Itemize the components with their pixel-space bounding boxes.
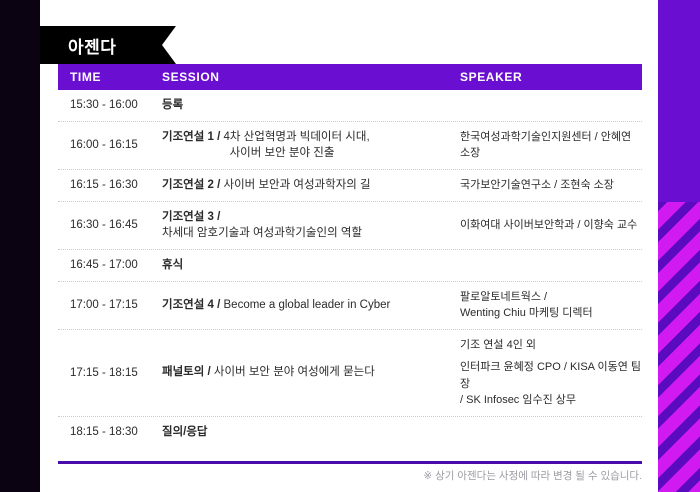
agenda-table: TIME SESSION SPEAKER 15:30 - 16:00등록16:0… — [58, 64, 642, 447]
table-row: 16:45 - 17:00휴식 — [58, 250, 642, 282]
table-row: 16:15 - 16:30기조연설 2 / 사이버 보안과 여성과학자의 길국가… — [58, 170, 642, 202]
cell-speaker: 한국여성과학기술인지원센터 / 안혜연 소장 — [460, 129, 642, 162]
speaker-line: 국가보안기술연구소 / 조현숙 소장 — [460, 177, 642, 194]
cell-session: 기조연설 1 / 4차 산업혁명과 빅데이터 시대,사이버 보안 분야 진출 — [162, 129, 460, 162]
session-title: 등록 — [162, 99, 183, 111]
session-subtitle: 4차 산업혁명과 빅데이터 시대, — [220, 131, 369, 143]
speaker-line: 팔로알토네트웍스 / — [460, 289, 642, 306]
table-body: 15:30 - 16:00등록16:00 - 16:15기조연설 1 / 4차 … — [58, 90, 642, 447]
cell-speaker: 국가보안기술연구소 / 조현숙 소장 — [460, 177, 642, 194]
cell-session: 휴식 — [162, 257, 460, 274]
speaker-line: 한국여성과학기술인지원센터 / 안혜연 소장 — [460, 129, 642, 162]
cell-speaker: 팔로알토네트웍스 /Wenting Chiu 마케팅 디렉터 — [460, 289, 642, 322]
column-header-session: SESSION — [162, 70, 460, 84]
session-subtitle: Become a global leader in Cyber — [220, 299, 390, 311]
cell-speaker: 기조 연설 4인 외인터파크 윤혜정 CPO / KISA 이동연 팀장/ SK… — [460, 337, 642, 409]
session-line-2: 사이버 보안 분야 진출 — [162, 145, 460, 162]
cell-time: 16:45 - 17:00 — [58, 259, 162, 271]
session-title: 기조연설 2 / — [162, 179, 220, 191]
table-row: 15:30 - 16:00등록 — [58, 90, 642, 122]
cell-session: 기조연설 2 / 사이버 보안과 여성과학자의 길 — [162, 177, 460, 194]
session-title: 패널토의 / — [162, 366, 211, 378]
session-subtitle: 사이버 보안과 여성과학자의 길 — [220, 179, 370, 191]
cell-time: 16:15 - 16:30 — [58, 179, 162, 191]
column-header-time: TIME — [58, 70, 162, 84]
cell-time: 16:00 - 16:15 — [58, 139, 162, 151]
speaker-line: 인터파크 윤혜정 CPO / KISA 이동연 팀장 — [460, 359, 642, 392]
table-bottom-rule — [58, 461, 642, 464]
table-row: 18:15 - 18:30질의/응답 — [58, 417, 642, 448]
footnote: ※ 상기 아젠다는 사정에 따라 변경 될 수 있습니다. — [58, 468, 642, 483]
diagonal-stripes-pattern — [658, 202, 700, 492]
cell-time: 16:30 - 16:45 — [58, 219, 162, 231]
column-header-speaker: SPEAKER — [460, 70, 642, 84]
page-title: 아젠다 — [68, 33, 116, 58]
speaker-line: 이화여대 사이버보안학과 / 이향숙 교수 — [460, 217, 642, 234]
left-accent-strip — [0, 0, 40, 492]
agenda-banner: 아젠다 — [40, 26, 162, 64]
cell-session: 기조연설 3 /차세대 암호기술과 여성과학기술인의 역할 — [162, 209, 460, 242]
cell-session: 질의/응답 — [162, 424, 460, 441]
right-decorative-strip — [658, 0, 700, 492]
session-line-2: 차세대 암호기술과 여성과학기술인의 역할 — [162, 225, 460, 242]
table-row: 16:30 - 16:45기조연설 3 /차세대 암호기술과 여성과학기술인의 … — [58, 202, 642, 250]
speaker-line: / SK Infosec 임수진 상무 — [460, 392, 642, 409]
session-title: 기조연설 1 / — [162, 131, 220, 143]
table-row: 16:00 - 16:15기조연설 1 / 4차 산업혁명과 빅데이터 시대,사… — [58, 122, 642, 170]
cell-session: 기조연설 4 / Become a global leader in Cyber — [162, 297, 460, 314]
cell-time: 15:30 - 16:00 — [58, 99, 162, 111]
session-title: 질의/응답 — [162, 426, 208, 438]
speaker-line: 기조 연설 4인 외 — [460, 337, 642, 354]
cell-session: 패널토의 / 사이버 보안 분야 여성에게 묻는다 — [162, 364, 460, 381]
table-row: 17:00 - 17:15기조연설 4 / Become a global le… — [58, 282, 642, 330]
cell-time: 18:15 - 18:30 — [58, 426, 162, 438]
table-row: 17:15 - 18:15패널토의 / 사이버 보안 분야 여성에게 묻는다기조… — [58, 330, 642, 417]
agenda-slide: 아젠다 TIME SESSION SPEAKER 15:30 - 16:00등록… — [0, 0, 700, 492]
cell-time: 17:00 - 17:15 — [58, 299, 162, 311]
session-title: 휴식 — [162, 259, 183, 271]
cell-time: 17:15 - 18:15 — [58, 367, 162, 379]
session-title: 기조연설 3 / — [162, 211, 220, 223]
table-header-row: TIME SESSION SPEAKER — [58, 64, 642, 90]
cell-speaker: 이화여대 사이버보안학과 / 이향숙 교수 — [460, 217, 642, 234]
session-subtitle: 사이버 보안 분야 여성에게 묻는다 — [211, 366, 375, 378]
cell-session: 등록 — [162, 97, 460, 114]
speaker-line: Wenting Chiu 마케팅 디렉터 — [460, 305, 642, 322]
session-title: 기조연설 4 / — [162, 299, 220, 311]
banner-chevron-tail — [162, 26, 176, 64]
